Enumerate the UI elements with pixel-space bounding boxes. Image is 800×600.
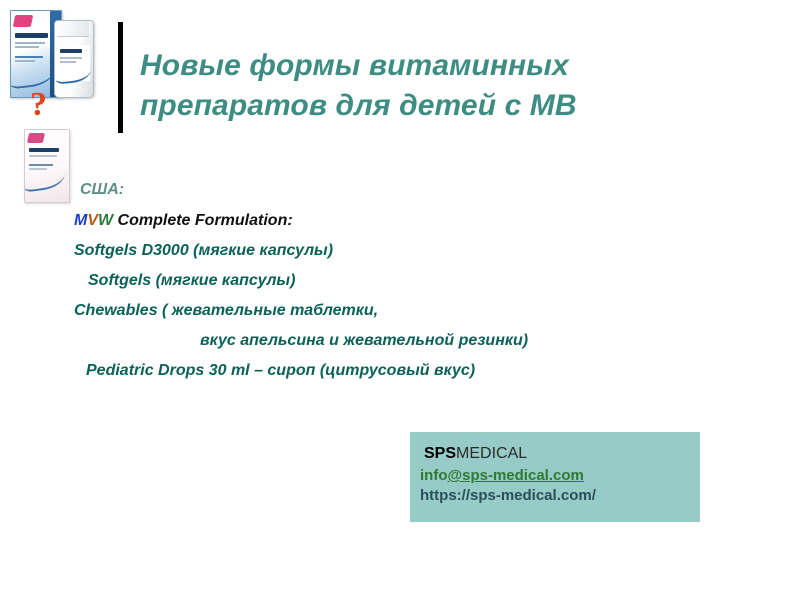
page-title: Новые формы витаминных препаратов для де… bbox=[140, 46, 760, 126]
contact-website-link[interactable]: https://sps-medical.com/ bbox=[420, 486, 700, 506]
carton-brand-wordmark bbox=[15, 33, 48, 38]
title-accent-bar bbox=[118, 22, 123, 133]
country-heading: США: bbox=[0, 182, 800, 198]
contact-email-prefix: info bbox=[420, 467, 448, 484]
mvw-letter-w: W bbox=[98, 212, 113, 229]
carton-text-line bbox=[29, 155, 57, 157]
list-item-softgels: Softgels (мягкие капсулы) bbox=[0, 273, 800, 289]
list-item-chewables-flavour: вкус апельсина и жевательной резинки) bbox=[0, 333, 800, 349]
product-bottle-icon bbox=[54, 20, 94, 98]
contact-email-link[interactable]: info@sps-medical.com bbox=[420, 466, 700, 486]
bottle-swoosh-icon bbox=[54, 61, 92, 84]
bottle-cap bbox=[58, 20, 89, 37]
contact-brand: SPSMEDICAL bbox=[420, 444, 700, 464]
bottle-text-line bbox=[60, 57, 82, 59]
carton-brand-wordmark bbox=[29, 148, 59, 152]
list-item-softgels-d3000: Softgels D3000 (мягкие капсулы) bbox=[0, 243, 800, 259]
product-family-heading: MVW Complete Formulation: bbox=[0, 213, 800, 229]
carton-pink-flag bbox=[27, 133, 45, 143]
contact-brand-sps: SPS bbox=[424, 445, 456, 462]
slide-canvas: ? Новые формы витаминных препаратов для … bbox=[0, 0, 800, 600]
contact-email-domain: @sps-medical.com bbox=[448, 467, 584, 484]
contact-card-inner: SPSMEDICAL info@sps-medical.com https://… bbox=[410, 432, 700, 505]
product-photo-aquadek-bottle bbox=[6, 4, 106, 100]
question-mark-icon: ? bbox=[30, 88, 47, 122]
list-item-chewables: Chewables ( жевательные таблетки, bbox=[0, 303, 800, 319]
mvw-heading-rest: Complete Formulation: bbox=[113, 212, 293, 229]
bottle-brand-wordmark bbox=[60, 49, 82, 53]
contact-card: SPSMEDICAL info@sps-medical.com https://… bbox=[410, 432, 700, 522]
carton-text-line bbox=[15, 46, 39, 48]
contact-brand-medical: MEDICAL bbox=[456, 445, 527, 462]
carton-pink-flag bbox=[13, 15, 34, 27]
carton-text-line bbox=[15, 42, 45, 44]
content-list: США: MVW Complete Formulation: Softgels … bbox=[0, 182, 800, 379]
product-image-stack: ? bbox=[0, 0, 112, 210]
list-item-pediatric-drops: Pediatric Drops 30 ml – сироп (цитрусовы… bbox=[0, 363, 800, 379]
mvw-letter-m: M bbox=[74, 212, 87, 229]
mvw-letter-v: V bbox=[87, 212, 98, 229]
